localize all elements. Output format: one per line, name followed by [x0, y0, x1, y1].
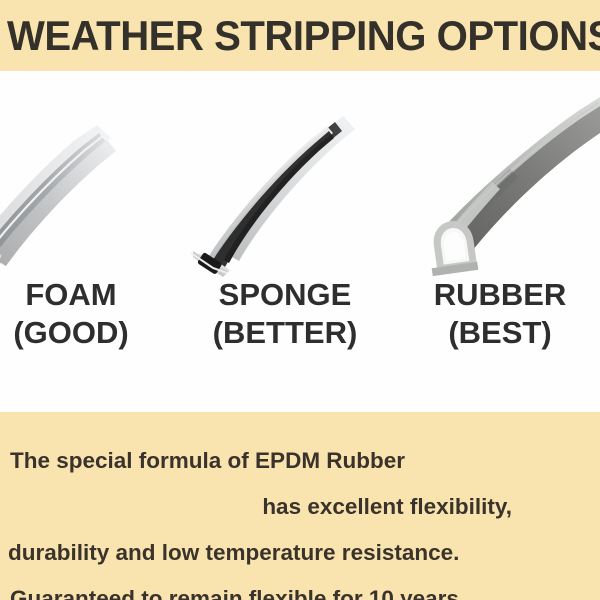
foam-strip-image	[0, 93, 167, 283]
product-rating-rubber: (BEST)	[400, 314, 600, 352]
sponge-strip-image	[185, 93, 385, 283]
product-rating-sponge: (BETTER)	[185, 314, 385, 352]
product-showcase: FOAM (GOOD)	[0, 71, 600, 412]
description-line-1: The special formula of EPDM Rubber	[0, 438, 600, 484]
description-line-3: durability and low temperature resistanc…	[0, 530, 600, 576]
product-foam: FOAM (GOOD)	[0, 71, 167, 412]
product-sponge: SPONGE (BETTER)	[185, 71, 385, 412]
weather-stripping-infographic: WEATHER STRIPPING OPTIONS	[0, 0, 600, 600]
product-name-rubber: RUBBER	[400, 276, 600, 314]
rubber-strip-image	[400, 93, 600, 283]
description-banner: The special formula of EPDM Rubber has e…	[0, 412, 600, 600]
description-line-4: Guaranteed to remain flexible for 10 yea…	[0, 576, 600, 600]
description-line-2: has excellent flexibility,	[0, 484, 600, 530]
description-text: The special formula of EPDM Rubber has e…	[0, 438, 600, 600]
product-rubber: RUBBER (BEST)	[400, 71, 600, 412]
page-title: WEATHER STRIPPING OPTIONS	[7, 13, 591, 59]
product-name-sponge: SPONGE	[185, 276, 385, 314]
product-rating-foam: (GOOD)	[0, 314, 171, 352]
title-banner: WEATHER STRIPPING OPTIONS	[0, 0, 600, 71]
product-name-foam: FOAM	[0, 276, 171, 314]
